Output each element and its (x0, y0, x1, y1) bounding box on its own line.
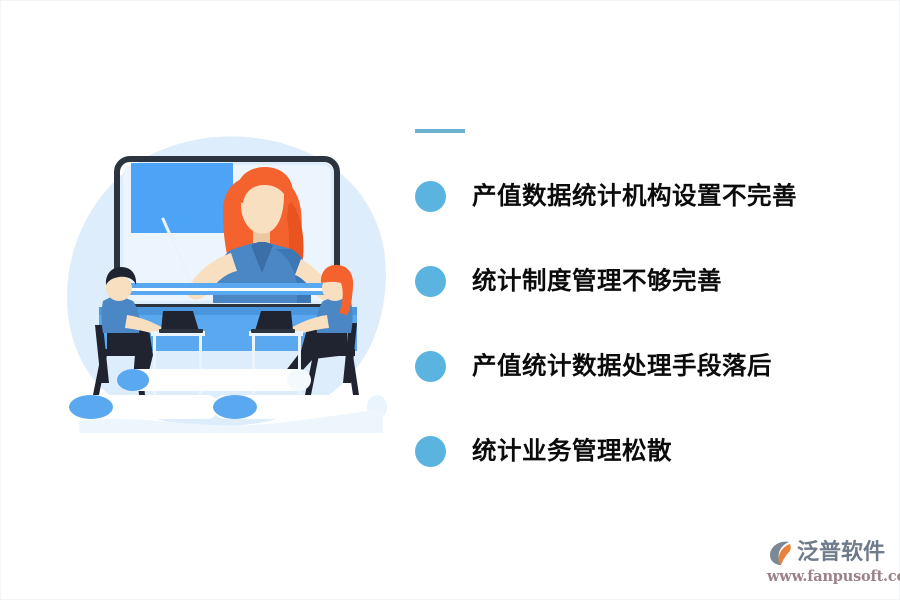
screen-taskbar-line (129, 288, 325, 291)
bullet-item-label: 产值数据统计机构设置不完善 (472, 184, 797, 209)
fanpu-swoosh-icon (767, 539, 795, 567)
brand-url: www.fanpusoft.com (767, 568, 895, 585)
bullet-item-label: 统计制度管理不够完善 (472, 269, 722, 294)
list-item[interactable]: 产值数据统计机构设置不完善 (415, 170, 855, 222)
whiteboard (131, 155, 233, 233)
laptop-right-base (251, 329, 295, 333)
mat-row-back (123, 369, 309, 391)
bullet-dot-icon (415, 351, 446, 382)
brand-logo-top: 泛普软件 (767, 539, 895, 567)
laptop-left-base (159, 329, 203, 333)
bullet-item-label: 产值统计数据处理手段落后 (472, 354, 772, 379)
mat-back-cap-right (287, 369, 311, 391)
list-item[interactable]: 统计业务管理松散 (415, 425, 855, 477)
laptop-left (161, 311, 199, 331)
brand-logo[interactable]: 泛普软件 www.fanpusoft.com (767, 539, 895, 587)
bullet-dot-icon (415, 266, 446, 297)
brand-name: 泛普软件 (797, 542, 885, 564)
accent-rule (415, 129, 465, 133)
laptop-right (255, 311, 293, 331)
list-item[interactable]: 产值统计数据处理手段落后 (415, 340, 855, 392)
list-item[interactable]: 统计制度管理不够完善 (415, 255, 855, 307)
mat-front-a-cap (69, 395, 113, 419)
bullet-list-panel: 产值数据统计机构设置不完善 统计制度管理不够完善 产值统计数据处理手段落后 统计… (415, 129, 855, 477)
bullet-dot-icon (415, 436, 446, 467)
mat-back-cap-left (117, 369, 149, 391)
bullet-item-label: 统计业务管理松散 (472, 439, 672, 464)
online-classroom-illustration (63, 133, 393, 433)
bullet-dot-icon (415, 181, 446, 212)
mat-front-b-cap (213, 395, 257, 419)
slide-canvas: 产值数据统计机构设置不完善 统计制度管理不够完善 产值统计数据处理手段落后 统计… (0, 0, 900, 600)
